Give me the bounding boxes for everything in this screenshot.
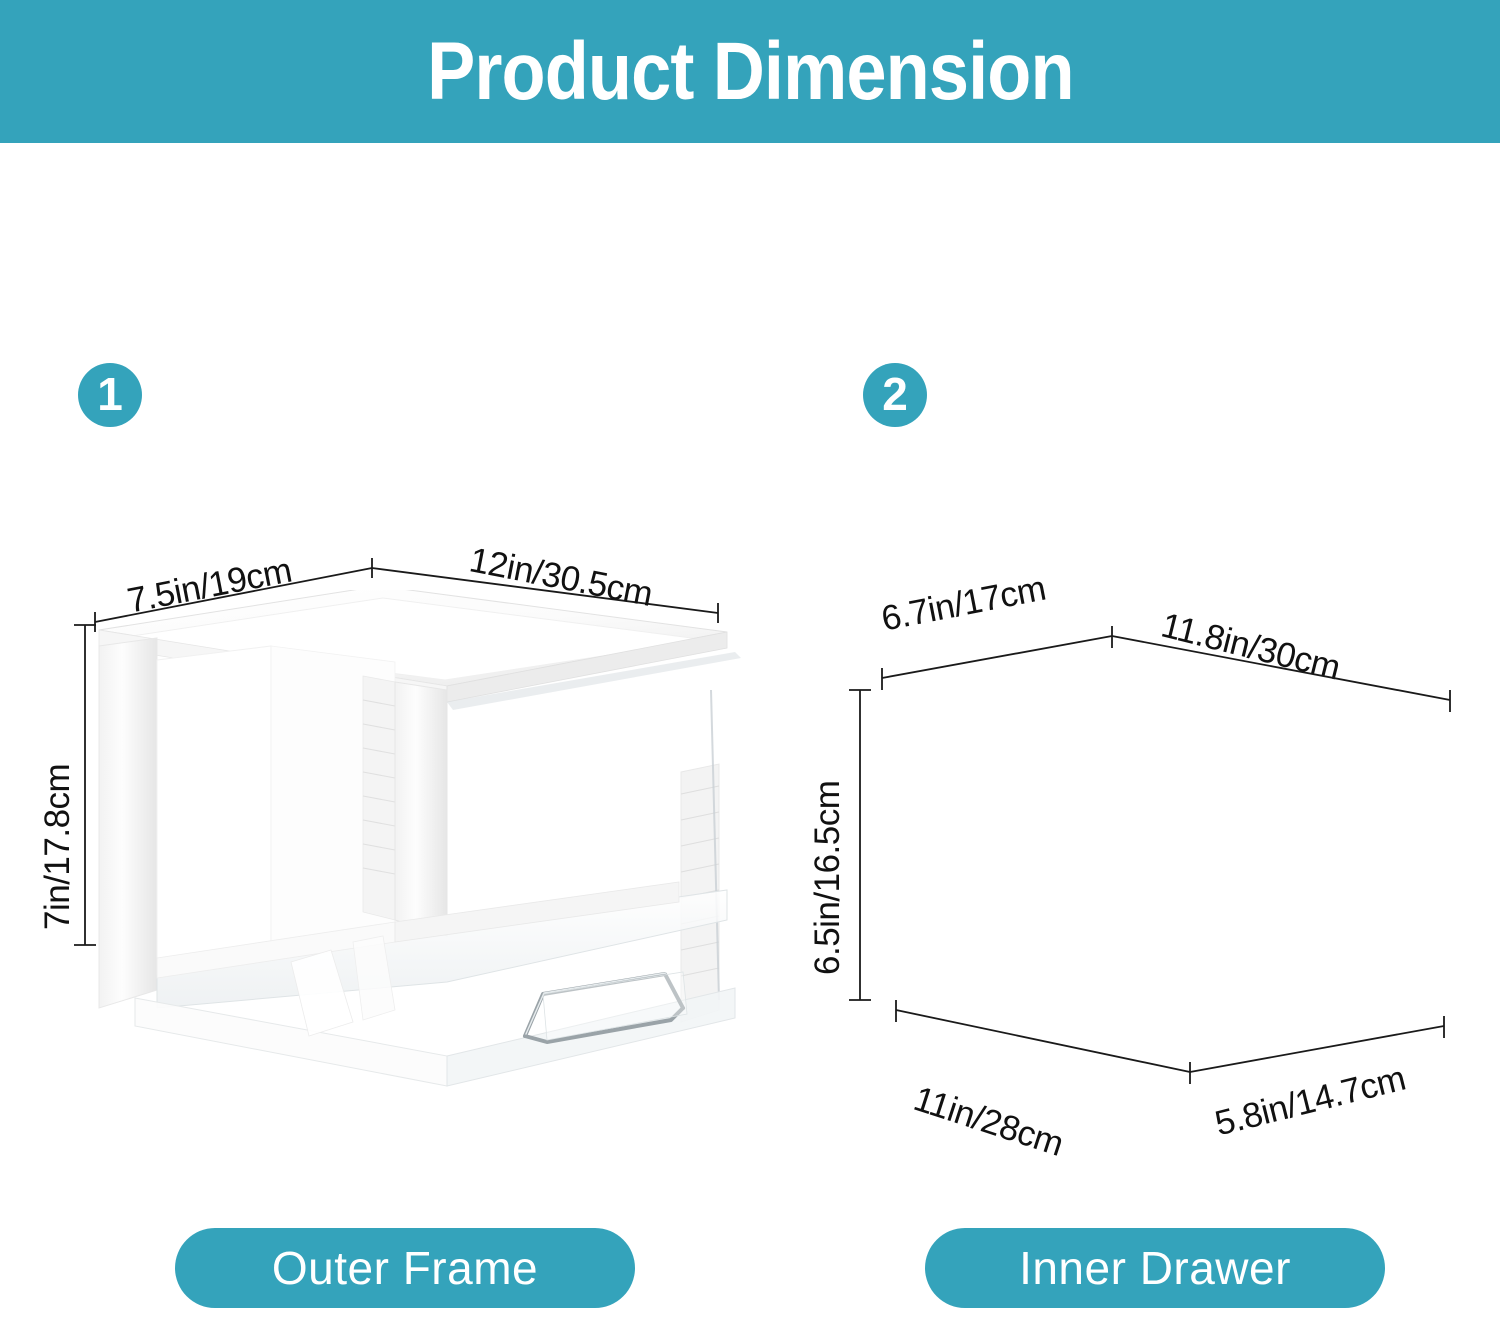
panel-inner-drawer: 6.7in/17cm 11.8in/30cm 6.5in/16.5cm 11in…	[750, 0, 1500, 1325]
dim-label-top-width: 11.8in/30cm	[1157, 606, 1344, 689]
dim-label-height: 6.5in/16.5cm	[808, 781, 848, 975]
caption-pill-outer-frame: Outer Frame	[175, 1228, 635, 1308]
dim-label-bottom-depth: 5.8in/14.7cm	[1211, 1059, 1409, 1145]
panel-outer-frame: 7.5in/19cm 12in/30.5cm 7in/17.8cm	[0, 0, 750, 1325]
caption-text-outer-frame: Outer Frame	[272, 1241, 538, 1295]
dimension-lines-right	[750, 0, 1500, 1325]
dim-label-bottom-width: 11in/28cm	[909, 1079, 1068, 1165]
dim-label-height: 7in/17.8cm	[38, 764, 78, 930]
product-image-outer-frame	[95, 590, 755, 1110]
caption-text-inner-drawer: Inner Drawer	[1019, 1241, 1291, 1295]
caption-pill-inner-drawer: Inner Drawer	[925, 1228, 1385, 1308]
dim-label-top-depth: 6.7in/17cm	[878, 569, 1049, 640]
